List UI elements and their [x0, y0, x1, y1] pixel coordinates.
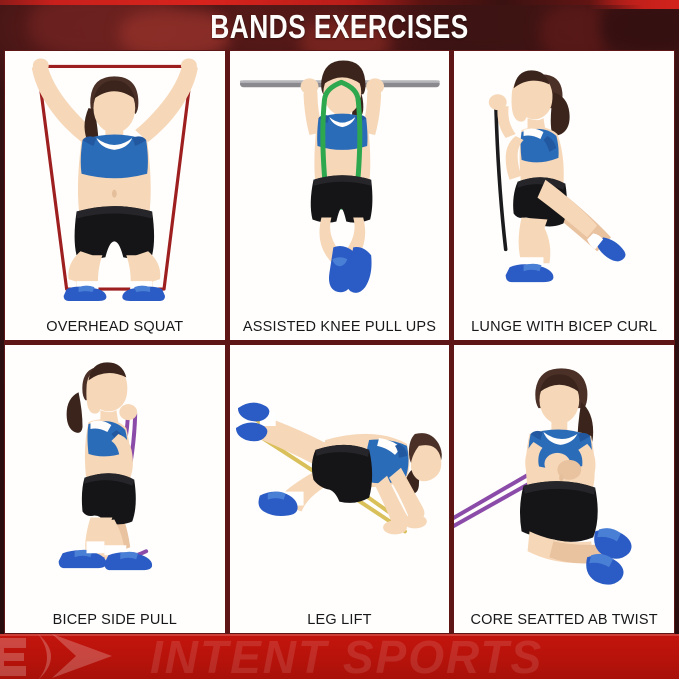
- exercise-card-assisted-knee-pull-ups[interactable]: ASSISTED KNEE PULL UPS: [230, 51, 450, 340]
- exercise-grid: OVERHEAD SQUAT: [4, 50, 675, 634]
- exercise-card-lunge-with-bicep-curl[interactable]: LUNGE WITH BICEP CURL: [454, 51, 674, 340]
- exercise-card-core-seatted-ab-twist[interactable]: CORE SEATTED AB TWIST: [454, 345, 674, 634]
- illustration-overhead-squat: [5, 51, 225, 308]
- exercise-card-overhead-squat[interactable]: OVERHEAD SQUAT: [5, 51, 225, 340]
- illustration-bicep-side-pull: [5, 345, 225, 602]
- illustration-lunge-with-bicep-curl: [454, 51, 674, 308]
- exercise-card-leg-lift[interactable]: LEG LIFT: [230, 345, 450, 634]
- exercise-card-bicep-side-pull[interactable]: BICEP SIDE PULL: [5, 345, 225, 634]
- illustration-core-seatted-ab-twist: [454, 345, 674, 602]
- exercise-caption: OVERHEAD SQUAT: [5, 319, 225, 335]
- exercise-caption: LEG LIFT: [230, 612, 450, 628]
- poster-header: BANDS EXERCISES: [0, 4, 679, 50]
- exercise-caption: LUNGE WITH BICEP CURL: [454, 319, 674, 335]
- exercise-caption: CORE SEATTED AB TWIST: [454, 612, 674, 628]
- illustration-leg-lift: [230, 345, 450, 602]
- poster-root: BANDS EXERCISES: [0, 0, 679, 679]
- brand-arrow-logo-icon: [0, 634, 165, 679]
- exercise-caption: BICEP SIDE PULL: [5, 612, 225, 628]
- illustration-assisted-knee-pull-ups: [230, 51, 450, 308]
- page-title: BANDS EXERCISES: [210, 8, 468, 46]
- brand-watermark: INTENT SPORTS: [150, 634, 543, 679]
- poster-footer: INTENT SPORTS: [0, 634, 679, 679]
- exercise-caption: ASSISTED KNEE PULL UPS: [230, 319, 450, 335]
